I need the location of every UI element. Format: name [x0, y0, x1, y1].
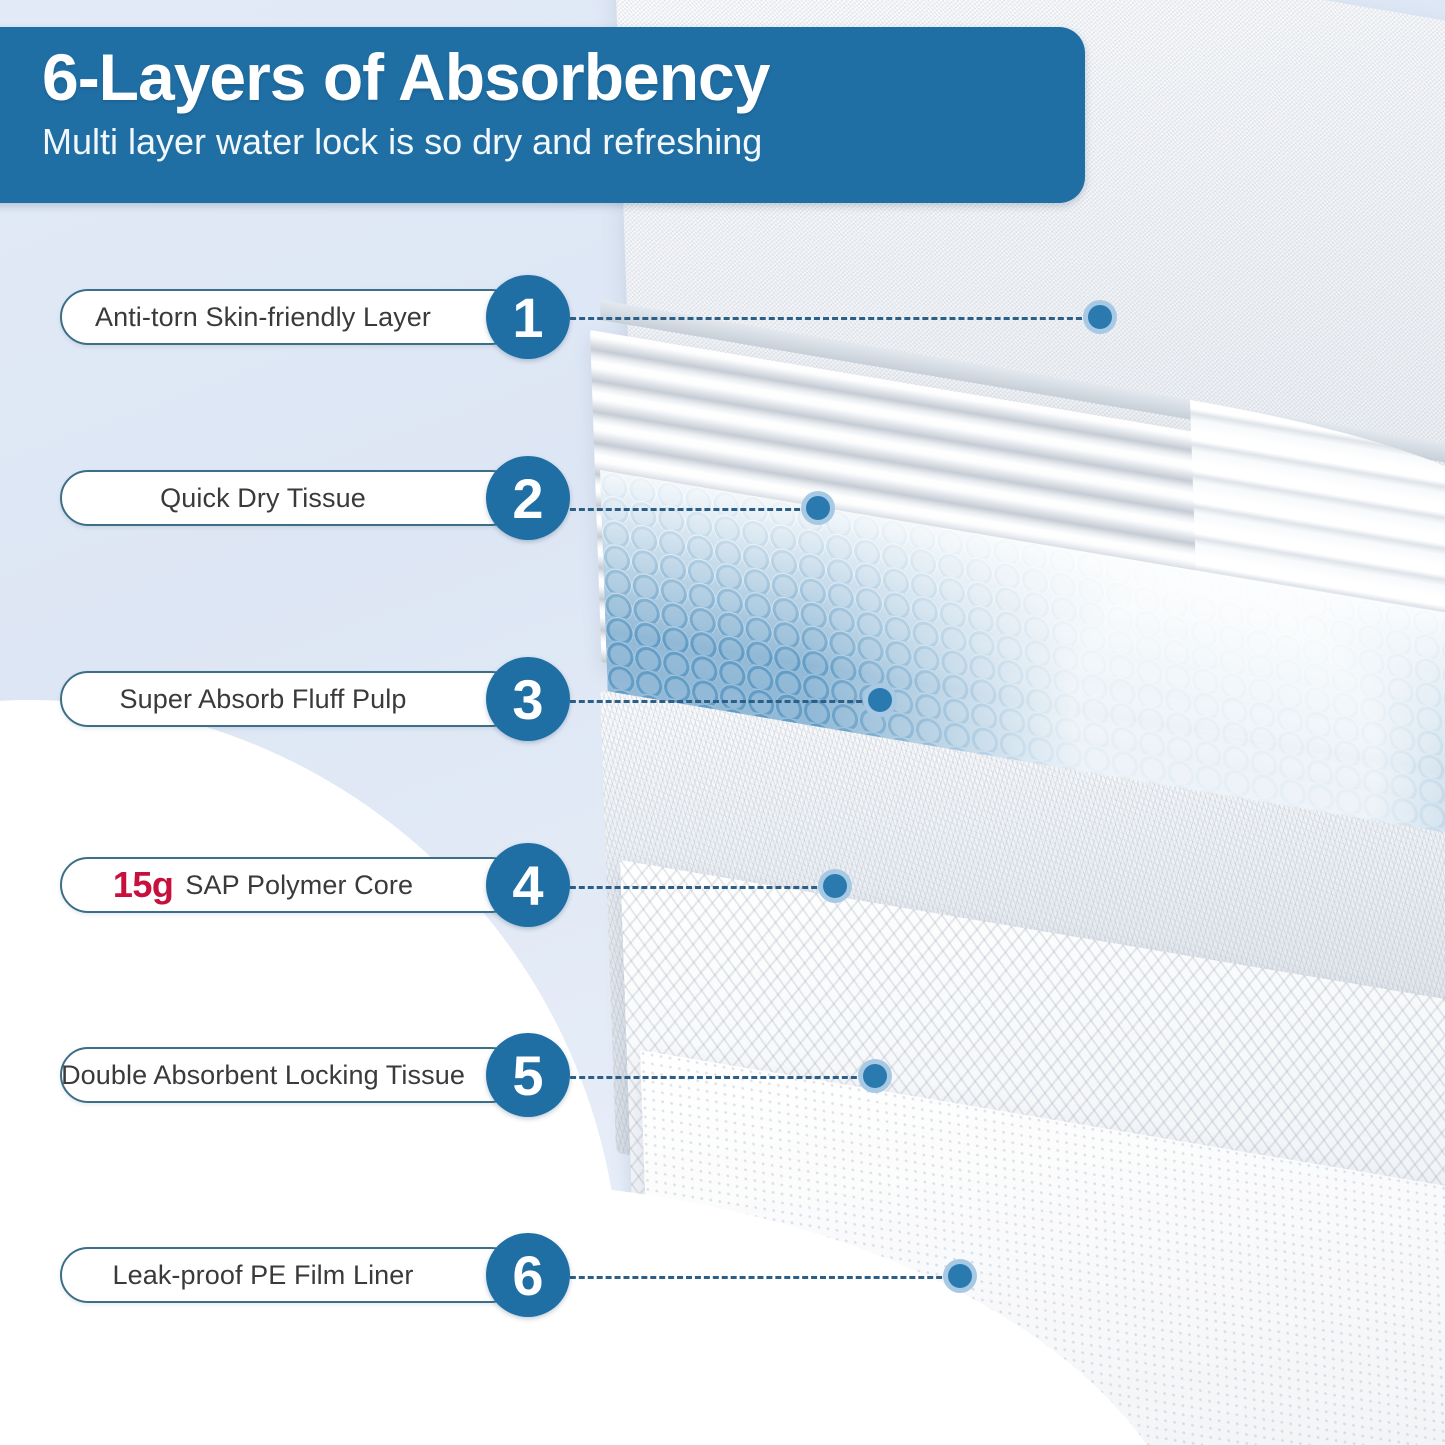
- layer-label-text-6: Leak-proof PE Film Liner: [112, 1260, 413, 1291]
- layer-label-pill-5[interactable]: Double Absorbent Locking Tissue: [60, 1047, 520, 1103]
- connector-line-4: [552, 886, 835, 889]
- layer-label-text-4: SAP Polymer Core: [185, 870, 413, 901]
- connector-endpoint-dot-3: [863, 683, 897, 717]
- connector-line-1: [552, 317, 1100, 320]
- layer-number-badge-6[interactable]: 6: [486, 1233, 570, 1317]
- page-title: 6-Layers of Absorbency: [42, 37, 1085, 118]
- layer-label-pill-4[interactable]: 15gSAP Polymer Core: [60, 857, 520, 913]
- layer-label-pill-6[interactable]: Leak-proof PE Film Liner: [60, 1247, 520, 1303]
- connector-endpoint-dot-4: [818, 869, 852, 903]
- connector-endpoint-dot-5: [858, 1059, 892, 1093]
- connector-line-3: [552, 700, 880, 703]
- layer-label-pill-1[interactable]: Anti-torn Skin-friendly Layer: [60, 289, 520, 345]
- layer-number-badge-3[interactable]: 3: [486, 657, 570, 741]
- layer-label-text-5: Double Absorbent Locking Tissue: [61, 1060, 465, 1091]
- connector-endpoint-dot-2: [801, 491, 835, 525]
- layer-label-accent-4: 15g: [113, 864, 174, 906]
- connector-line-5: [552, 1076, 875, 1079]
- layer-label-pill-3[interactable]: Super Absorb Fluff Pulp: [60, 671, 520, 727]
- layer-label-text-2: Quick Dry Tissue: [160, 483, 366, 514]
- layer-label-pill-2[interactable]: Quick Dry Tissue: [60, 470, 520, 526]
- layer-number-badge-1[interactable]: 1: [486, 275, 570, 359]
- connector-endpoint-dot-6: [943, 1259, 977, 1293]
- connector-line-2: [552, 508, 818, 511]
- page-subtitle: Multi layer water lock is so dry and ref…: [42, 120, 1085, 163]
- layer-number-badge-4[interactable]: 4: [486, 843, 570, 927]
- layer-number-badge-5[interactable]: 5: [486, 1033, 570, 1117]
- layer-label-text-1: Anti-torn Skin-friendly Layer: [95, 302, 431, 333]
- connector-endpoint-dot-1: [1083, 300, 1117, 334]
- header-banner: 6-Layers of Absorbency Multi layer water…: [0, 27, 1085, 203]
- connector-line-6: [552, 1276, 960, 1279]
- layer-label-text-3: Super Absorb Fluff Pulp: [120, 684, 407, 715]
- layer-number-badge-2[interactable]: 2: [486, 456, 570, 540]
